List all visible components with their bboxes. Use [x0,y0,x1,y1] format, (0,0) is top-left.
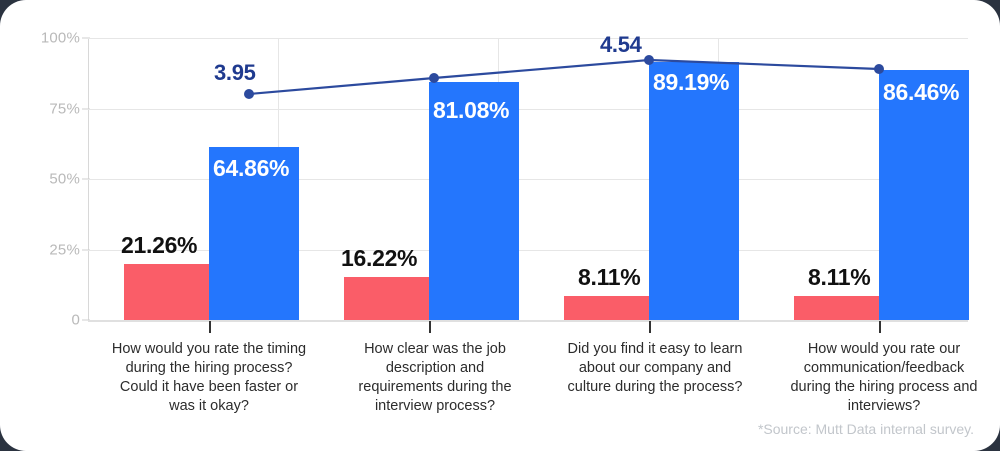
bar-red-4[interactable] [794,296,879,320]
score-line-marker-1[interactable] [244,89,254,99]
chart-card: 100% 75% 50% 25% 0 21.26% [0,0,1000,451]
x-category-label-1: How would you rate the timing during the… [110,340,308,416]
source-note: *Source: Mutt Data internal survey. [758,421,974,437]
bar-label-red-4: 8.11% [808,264,870,291]
bar-label-blue-2: 81.08% [433,97,509,124]
bar-red-2[interactable] [344,277,429,320]
bar-red-1[interactable] [124,264,209,320]
bar-label-red-3: 8.11% [578,264,640,291]
x-axis-line [88,320,968,322]
bar-label-blue-4: 86.46% [883,79,959,106]
score-line-label-1: 3.95 [214,60,256,86]
bar-label-red-2: 16.22% [341,245,417,272]
x-category-label-3: Did you find it easy to learn about our … [560,340,750,397]
y-tick-label-100: 100% [41,30,80,47]
y-tick-label-0: 0 [71,312,80,329]
y-tick-label-25: 25% [49,241,80,258]
score-line-path [249,60,879,94]
bar-label-blue-1: 64.86% [213,155,289,182]
score-line-label-3: 4.54 [600,32,642,58]
y-tick-label-50: 50% [49,171,80,188]
bar-blue-4[interactable] [879,70,969,320]
y-tick-label-75: 75% [49,100,80,117]
x-category-label-4: How would you rate our communication/fee… [786,340,982,416]
gridline-75 [88,109,968,110]
bar-red-3[interactable] [564,296,649,320]
gridline-100 [88,38,968,39]
bar-label-red-1: 21.26% [121,232,197,259]
bar-label-blue-3: 89.19% [653,69,729,96]
x-tick-3 [649,321,651,333]
bar-blue-3[interactable] [649,62,739,320]
x-tick-1 [209,321,211,333]
x-category-label-2: How clear was the job description and re… [345,340,525,416]
x-tick-2 [429,321,431,333]
x-tick-4 [879,321,881,333]
